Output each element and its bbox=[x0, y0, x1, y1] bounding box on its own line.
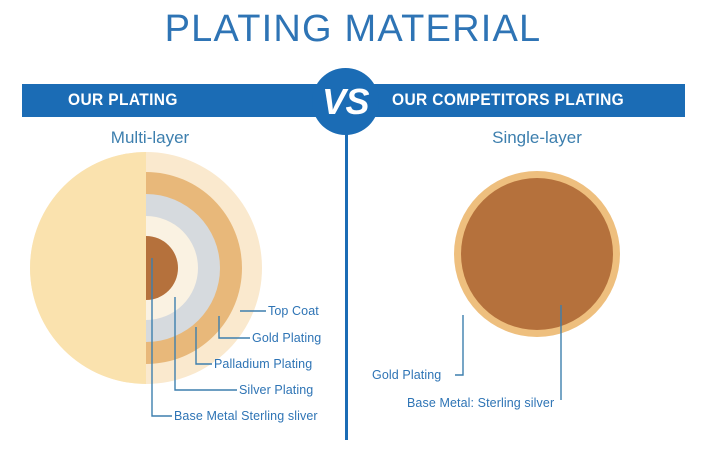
label-base-metal-right: Base Metal: Sterling silver bbox=[407, 396, 554, 410]
leader-line-gold-right bbox=[455, 315, 463, 375]
label-top-coat: Top Coat bbox=[268, 304, 319, 318]
diagram-canvas bbox=[0, 0, 706, 455]
label-gold-plating: Gold Plating bbox=[252, 331, 321, 345]
cutaway-outer-face bbox=[30, 152, 146, 384]
label-gold-plating-right: Gold Plating bbox=[372, 368, 441, 382]
label-palladium-plating: Palladium Plating bbox=[214, 357, 312, 371]
label-silver-plating: Silver Plating bbox=[239, 383, 313, 397]
layer-base-metal-core-right bbox=[461, 178, 613, 330]
plating-material-infographic: PLATING MATERIAL OUR PLATING OUR COMPETI… bbox=[0, 0, 706, 455]
label-base-metal: Base Metal Sterling sliver bbox=[174, 409, 318, 423]
multi-layer-sphere bbox=[30, 152, 262, 384]
single-layer-sphere bbox=[454, 171, 620, 337]
